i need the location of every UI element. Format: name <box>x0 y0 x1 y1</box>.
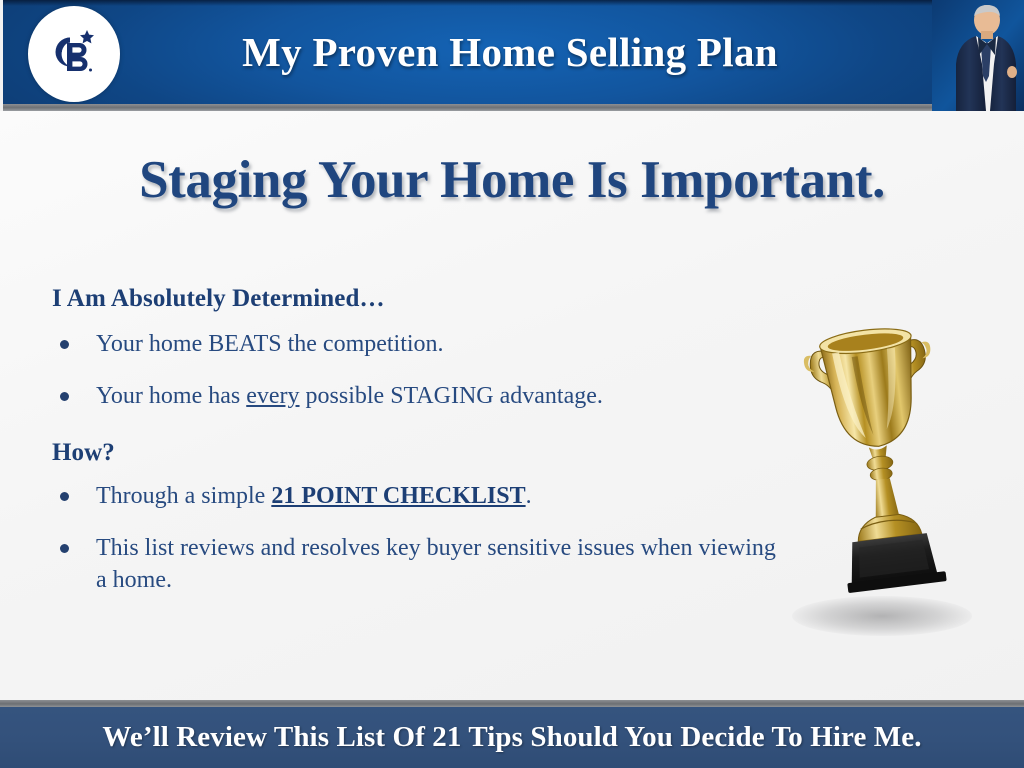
bullet-text: Your home BEATS the competition. <box>96 331 444 357</box>
businessman-portrait-icon <box>932 0 1024 111</box>
content-column: I Am Absolutely Determined… Your home BE… <box>52 285 782 597</box>
list-item: Your home BEATS the competition. <box>52 329 782 361</box>
section-heading-determined: I Am Absolutely Determined… <box>52 285 782 313</box>
footer-divider-bar <box>0 700 1024 707</box>
cb-star-icon <box>43 23 105 85</box>
list-item: Your home has every possible STAGING adv… <box>52 381 782 413</box>
bullet-dot-icon <box>60 392 69 401</box>
agent-photo <box>932 0 1024 111</box>
bullet-text-part: . <box>526 483 532 509</box>
bullet-list-how: Through a simple 21 POINT CHECKLIST. Thi… <box>52 481 782 597</box>
logo-oval-background <box>28 6 120 102</box>
bullet-text: This list reviews and resolves key buyer… <box>96 535 776 593</box>
list-item: This list reviews and resolves key buyer… <box>52 533 782 597</box>
bullet-list-determined: Your home BEATS the competition. Your ho… <box>52 329 782 413</box>
bullet-text-emphasis: every <box>246 383 299 409</box>
bullet-dot-icon <box>60 492 69 501</box>
header-title: My Proven Home Selling Plan <box>140 0 880 104</box>
slide-footer-banner: We’ll Review This List Of 21 Tips Should… <box>0 707 1024 768</box>
bullet-text-part: Through a simple <box>96 483 271 509</box>
brand-logo <box>28 6 120 102</box>
bullet-dot-icon <box>60 544 69 553</box>
gold-trophy-icon <box>782 306 982 606</box>
presentation-slide: My Proven Home Selling Plan <box>0 0 1024 768</box>
footer-text: We’ll Review This List Of 21 Tips Should… <box>102 721 921 754</box>
section-heading-how: How? <box>52 439 782 467</box>
left-edge-margin <box>0 0 3 111</box>
trophy-image <box>782 306 982 606</box>
checklist-emphasis: 21 POINT CHECKLIST <box>271 483 525 509</box>
header-divider-bar <box>0 104 1024 111</box>
bullet-text-part: Your home has <box>96 383 246 409</box>
page-title-text: Staging Your Home Is Important. <box>139 151 885 209</box>
header-title-text: My Proven Home Selling Plan <box>242 28 778 76</box>
page-title: Staging Your Home Is Important. <box>0 150 1024 210</box>
bullet-text-part: possible STAGING advantage. <box>300 383 603 409</box>
list-item: Through a simple 21 POINT CHECKLIST. <box>52 481 782 513</box>
bullet-dot-icon <box>60 340 69 349</box>
